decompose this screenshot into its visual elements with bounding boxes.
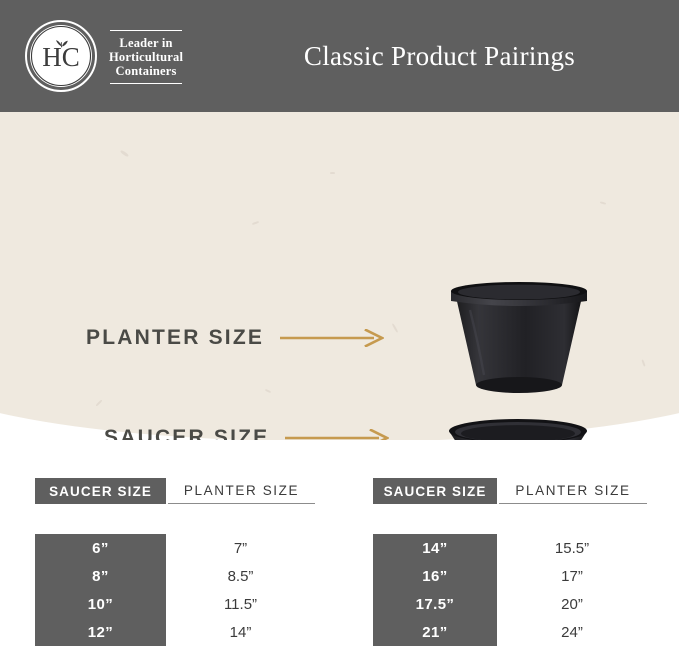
texture-speck (330, 172, 335, 174)
column-header-saucer-size: SAUCER SIZE (373, 478, 497, 504)
callout-saucer-size: SAUCER SIZE (104, 426, 389, 440)
callout-planter-label: PLANTER SIZE (86, 326, 264, 350)
pairings-table-large: SAUCER SIZE PLANTER SIZE 14” 15.5” 16” 1… (373, 478, 647, 646)
table-row: 8.5” (166, 562, 315, 590)
pairings-tables: SAUCER SIZE PLANTER SIZE 6” 7” 8” 8.5” 1… (0, 478, 679, 636)
table-row: 6” (35, 534, 166, 562)
table-row: 15.5” (497, 534, 647, 562)
header-spacer (35, 506, 315, 509)
callout-saucer-label: SAUCER SIZE (104, 426, 269, 440)
arrow-right-icon (285, 429, 389, 440)
saucer-dish-image (443, 415, 593, 440)
table-row: 12” (35, 618, 166, 646)
column-header-planter-size: PLANTER SIZE (168, 478, 315, 504)
arrow-right-icon (280, 329, 384, 347)
table-row: 7” (166, 534, 315, 562)
table-row: 11.5” (166, 590, 315, 618)
header-spacer (373, 506, 647, 509)
table-row: 17.5” (373, 590, 497, 618)
callout-planter-size: PLANTER SIZE (86, 326, 384, 350)
table-row: 14” (166, 618, 315, 646)
table-row: 20” (497, 590, 647, 618)
table-row: 21” (373, 618, 497, 646)
page-header: HC Leader in Horticultural Containers Cl… (0, 0, 679, 112)
planter-pot-image (444, 280, 594, 405)
hero-section: PLANTER SIZE SAUCER SIZE (0, 112, 679, 440)
column-header-saucer-size: SAUCER SIZE (35, 478, 166, 504)
page-title: Classic Product Pairings (0, 40, 679, 72)
column-header-planter-size: PLANTER SIZE (499, 478, 647, 504)
table-row: 14” (373, 534, 497, 562)
table-row: 16” (373, 562, 497, 590)
table-row: 17” (497, 562, 647, 590)
tagline-rule-bottom (110, 83, 182, 84)
table-row: 8” (35, 562, 166, 590)
table-row: 10” (35, 590, 166, 618)
table-row: 24” (497, 618, 647, 646)
tagline-rule-top (110, 30, 182, 31)
pairings-table-small: SAUCER SIZE PLANTER SIZE 6” 7” 8” 8.5” 1… (35, 478, 315, 646)
